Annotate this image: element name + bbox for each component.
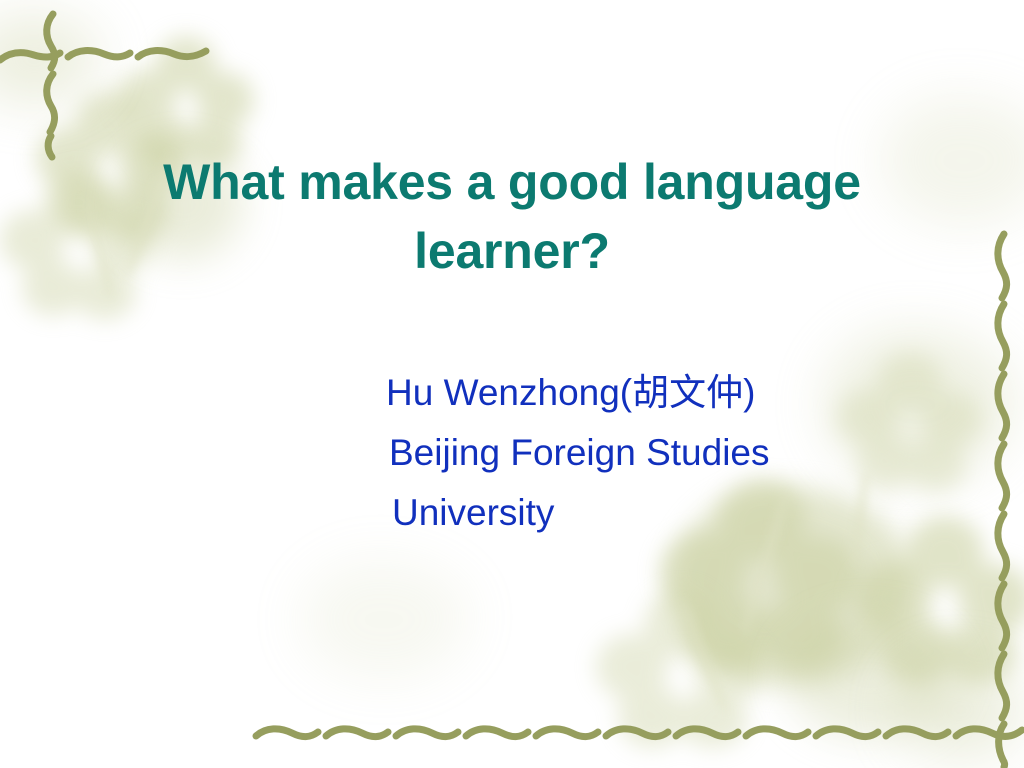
- bamboo-vertical-rule-top-left: [36, 10, 70, 160]
- floral-stem: [678, 599, 729, 713]
- slide-subtitle: Hu Wenzhong(胡文仲) Beijing Foreign Studies…: [386, 363, 946, 543]
- floral-blob: [300, 560, 470, 680]
- subtitle-affiliation-line-2: University: [392, 483, 946, 543]
- slide-title-line-1: What makes a good language: [62, 148, 962, 217]
- slide-title: What makes a good language learner?: [62, 148, 962, 286]
- bamboo-horizontal-rule-top-left: [0, 38, 214, 72]
- presentation-slide: What makes a good language learner? Hu W…: [0, 0, 1024, 768]
- bamboo-vertical-rule-right: [986, 230, 1020, 768]
- slide-title-line-2: learner?: [62, 217, 962, 286]
- subtitle-author: Hu Wenzhong(胡文仲): [386, 363, 946, 423]
- subtitle-affiliation-line-1: Beijing Foreign Studies: [389, 423, 946, 483]
- bamboo-horizontal-rule-bottom: [250, 716, 1024, 750]
